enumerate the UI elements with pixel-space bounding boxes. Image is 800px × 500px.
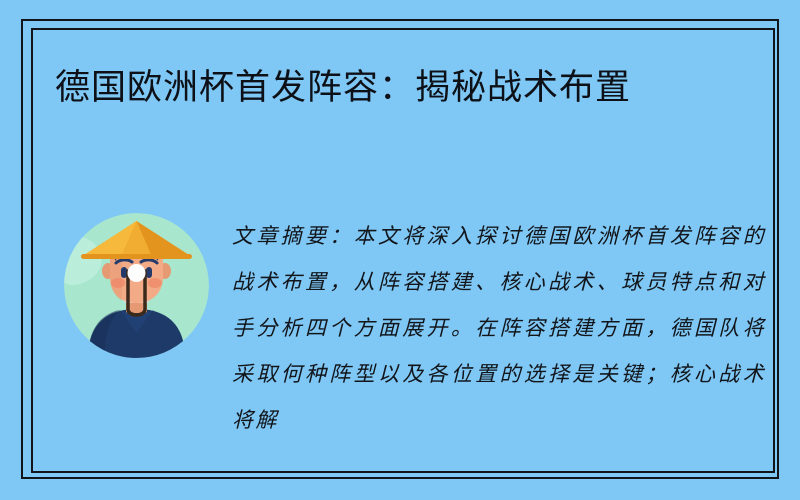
page-root: 德国欧洲杯首发阵容：揭秘战术布置 bbox=[0, 0, 800, 500]
article-content: 文章摘要：本文将深入探讨德国欧洲杯首发阵容的战术布置，从阵容搭建、核心战术、球员… bbox=[0, 0, 800, 500]
article-summary: 文章摘要：本文将深入探讨德国欧洲杯首发阵容的战术布置，从阵容搭建、核心战术、球员… bbox=[232, 213, 766, 471]
avatar-illustration bbox=[64, 213, 209, 358]
article-summary-text: 文章摘要：本文将深入探讨德国欧洲杯首发阵容的战术布置，从阵容搭建、核心战术、球员… bbox=[232, 213, 766, 443]
avatar bbox=[64, 213, 209, 358]
avatar-eye-right bbox=[146, 267, 152, 278]
avatar-blush-right bbox=[148, 278, 162, 288]
avatar-eye-left bbox=[121, 267, 127, 278]
avatar-blush-left bbox=[111, 278, 125, 288]
